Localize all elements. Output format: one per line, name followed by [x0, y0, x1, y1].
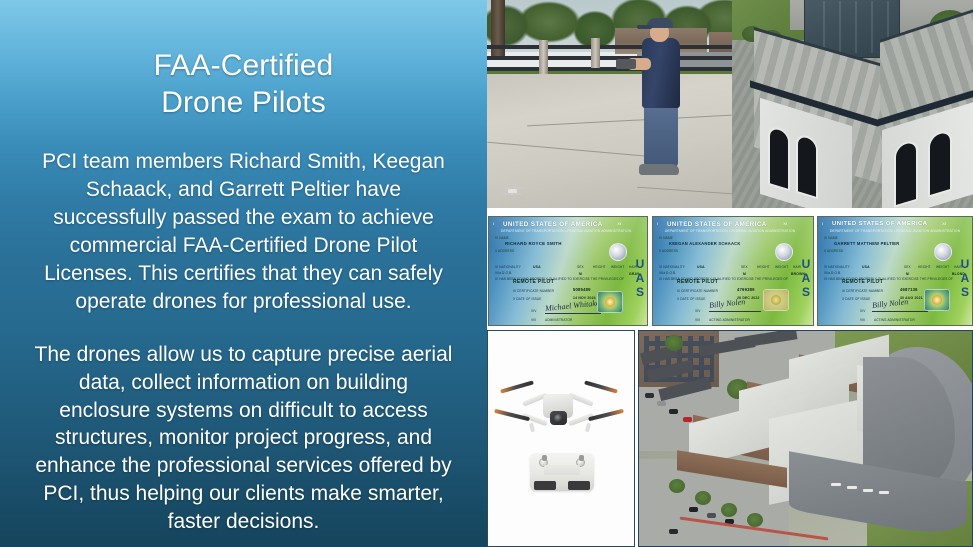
photo-parked-car — [689, 507, 698, 512]
cert-hologram-icon — [763, 289, 789, 311]
photo-pilot-shoes — [639, 164, 679, 175]
photo-aerial-building — [638, 330, 973, 547]
photo-parked-car — [683, 417, 692, 422]
photo-parked-car — [669, 529, 678, 534]
cert-label-cert-number: III CERTIFICATE NUMBER — [677, 289, 718, 293]
photo-cupola-window — [768, 125, 790, 192]
cert-label-administrator: VIII — [695, 318, 700, 322]
cert-uas-label: UAS — [632, 243, 646, 313]
certificate-face: I UNITED STATES OF AMERICA XI DEPARTMENT… — [488, 216, 648, 326]
cert-uas-label: UAS — [798, 243, 812, 313]
cert-field-numeral-left: I — [493, 221, 494, 226]
faa-certificate-card-2: I UNITED STATES OF AMERICA XI DEPARTMENT… — [652, 216, 814, 326]
photo-pilot-cap-brim — [637, 25, 652, 29]
cert-pilot-name: RICHARD ROYCE SMITH — [505, 241, 562, 246]
photo-cupola-window — [796, 133, 818, 200]
controller-grip-left — [534, 481, 556, 490]
photo-tree — [747, 513, 763, 527]
cert-administrator-title: ADMINISTRATOR — [545, 318, 572, 322]
cert-sex-value: M — [906, 272, 909, 276]
photo-roof-stripe — [879, 491, 889, 494]
cert-field-numeral-left: I — [657, 221, 658, 226]
cert-label-signature: XIV — [695, 309, 700, 313]
cert-label-nationality: VI NATIONALITY — [495, 265, 521, 269]
photo-white-backdrop — [488, 331, 634, 546]
title-line-2: Drone Pilots — [154, 85, 334, 122]
cert-hologram-icon — [597, 291, 623, 313]
photo-tree — [695, 491, 711, 505]
cert-label-administrator: VIII — [860, 318, 865, 322]
photo-cupola-window — [928, 128, 952, 197]
paragraph-certification: PCI team members Richard Smith, Keegan S… — [34, 148, 454, 316]
cert-number-value: 5085489 — [573, 287, 591, 292]
cert-signature: Michael Whitaker — [545, 298, 603, 313]
photo-parked-car — [645, 393, 654, 398]
photo-roof-stripe — [863, 489, 873, 492]
cert-administrator-title: ACTING ADMINISTRATOR — [709, 318, 750, 322]
cert-label-sex: SEX — [577, 265, 584, 269]
photo-parked-car — [707, 513, 716, 518]
cert-field-numeral-right: XI — [783, 221, 787, 226]
paragraph-capabilities: The drones allow us to capture precise a… — [34, 341, 454, 536]
cert-field-numeral-right: XI — [617, 221, 621, 226]
cert-uas-label: UAS — [957, 243, 971, 313]
slide: FAA-Certified Drone Pilots PCI team memb… — [0, 0, 973, 547]
cert-sex-value: M — [579, 272, 582, 276]
cert-label-date: X DATE OF ISSUE — [513, 297, 542, 301]
cert-label-address: V ADDRESS — [495, 249, 514, 253]
photo-drone-on-ground — [501, 186, 523, 197]
cert-agency-line: DEPARTMENT OF TRANSPORTATION • FEDERAL A… — [501, 229, 641, 233]
photo-roof-stripe — [831, 483, 841, 486]
faa-certificate-card-1: I UNITED STATES OF AMERICA XI DEPARTMENT… — [488, 216, 648, 326]
cert-label-date: X DATE OF ISSUE — [842, 297, 871, 301]
controller-phone-slot — [544, 465, 580, 475]
cert-signature-line — [709, 311, 761, 312]
cert-label-height: HEIGHT — [757, 265, 770, 269]
cert-label-dob: VIIa D.O.B. — [495, 271, 512, 275]
photo-driveway — [487, 74, 732, 208]
cert-label-name: IV NAME — [495, 236, 509, 240]
cert-label-signature: XIV — [531, 309, 536, 313]
drone-camera-gimbal — [550, 411, 567, 425]
cert-label-height: HEIGHT — [918, 265, 931, 269]
cert-rating: REMOTE PILOT — [677, 279, 718, 285]
photo-fence-post — [591, 38, 600, 68]
cert-label-address: V ADDRESS — [824, 249, 843, 253]
cert-signature-line — [545, 313, 601, 314]
photo-parked-car — [669, 409, 678, 414]
text-panel: FAA-Certified Drone Pilots PCI team memb… — [0, 0, 487, 547]
photo-tree — [665, 335, 683, 351]
cert-label-weight: WEIGHT — [611, 265, 624, 269]
cert-rating: REMOTE PILOT — [842, 279, 883, 285]
photo-pilot-flying-drone — [487, 0, 732, 208]
photo-remote-controller — [616, 59, 636, 69]
certificate-face: I UNITED STATES OF AMERICA XI DEPARTMENT… — [652, 216, 814, 326]
cert-label-height: HEIGHT — [593, 265, 606, 269]
cert-label-nationality: VI NATIONALITY — [659, 265, 685, 269]
controller-grip-right — [568, 481, 590, 490]
cert-label-signature: XIV — [860, 309, 865, 313]
cert-agency-line: DEPARTMENT OF TRANSPORTATION • FEDERAL A… — [665, 229, 807, 233]
cert-label-administrator: VIII — [531, 318, 536, 322]
cert-label-dob: VIIa D.O.B. — [824, 271, 841, 275]
photo-tree — [721, 503, 737, 517]
cert-label-sex: SEX — [904, 265, 911, 269]
cert-number-value: 4687136 — [900, 287, 918, 292]
title-line-1: FAA-Certified — [154, 48, 334, 85]
cert-field-numeral-left: I — [822, 221, 823, 226]
faa-seal-icon — [775, 243, 793, 261]
cert-field-numeral-right: XI — [942, 221, 946, 226]
cert-label-date: X DATE OF ISSUE — [677, 297, 706, 301]
photo-fence-post — [539, 40, 548, 78]
photo-cupola-window — [894, 138, 918, 207]
cert-label-nationality: VI NATIONALITY — [824, 265, 850, 269]
cert-nationality-value: USA — [697, 265, 705, 269]
photo-grid: I UNITED STATES OF AMERICA XI DEPARTMENT… — [487, 0, 973, 547]
cert-hologram-icon — [924, 289, 950, 311]
cert-nationality-value: USA — [533, 265, 541, 269]
cert-rating: REMOTE PILOT — [513, 279, 554, 285]
cert-number-value: 4769389 — [737, 287, 755, 292]
cert-signature: Billy Nolen — [872, 297, 909, 310]
cert-signature-line — [872, 311, 928, 312]
cert-label-name: IV NAME — [659, 236, 673, 240]
faa-seal-icon — [934, 243, 952, 261]
photo-tree — [669, 479, 685, 493]
cert-pilot-name: GARRETT MATTHEW PELTIER — [834, 241, 899, 246]
cert-label-weight: WEIGHT — [775, 265, 788, 269]
photo-ranch-fence — [487, 42, 732, 76]
cert-label-cert-number: III CERTIFICATE NUMBER — [513, 289, 554, 293]
cert-label-name: IV NAME — [824, 236, 838, 240]
page-title: FAA-Certified Drone Pilots — [154, 48, 334, 121]
photo-aerial-cupola — [732, 0, 973, 208]
cert-administrator-title: ACTING ADMINISTRATOR — [874, 318, 915, 322]
photo-pilot-legs — [644, 105, 678, 167]
certificate-face: I UNITED STATES OF AMERICA XI DEPARTMENT… — [817, 216, 973, 326]
cert-label-address: V ADDRESS — [659, 249, 678, 253]
photo-drone-product — [487, 330, 635, 547]
cert-label-cert-number: III CERTIFICATE NUMBER — [842, 289, 883, 293]
photo-parked-car — [657, 401, 666, 406]
faa-seal-icon — [609, 243, 627, 261]
cert-label-weight: WEIGHT — [936, 265, 949, 269]
cert-label-dob: VIIa D.O.B. — [659, 271, 676, 275]
cert-nationality-value: USA — [862, 265, 870, 269]
cert-signature: Billy Nolen — [709, 297, 746, 310]
cert-agency-line: DEPARTMENT OF TRANSPORTATION • FEDERAL A… — [830, 229, 966, 233]
faa-certificate-card-3: I UNITED STATES OF AMERICA XI DEPARTMENT… — [817, 216, 973, 326]
photo-pilot-torso — [642, 38, 680, 108]
cert-label-sex: SEX — [741, 265, 748, 269]
photo-roof-stripe — [847, 486, 857, 489]
cert-sex-value: M — [743, 272, 746, 276]
cert-pilot-name: KEEGAN ALEXANDER SCHAACK — [669, 241, 741, 246]
